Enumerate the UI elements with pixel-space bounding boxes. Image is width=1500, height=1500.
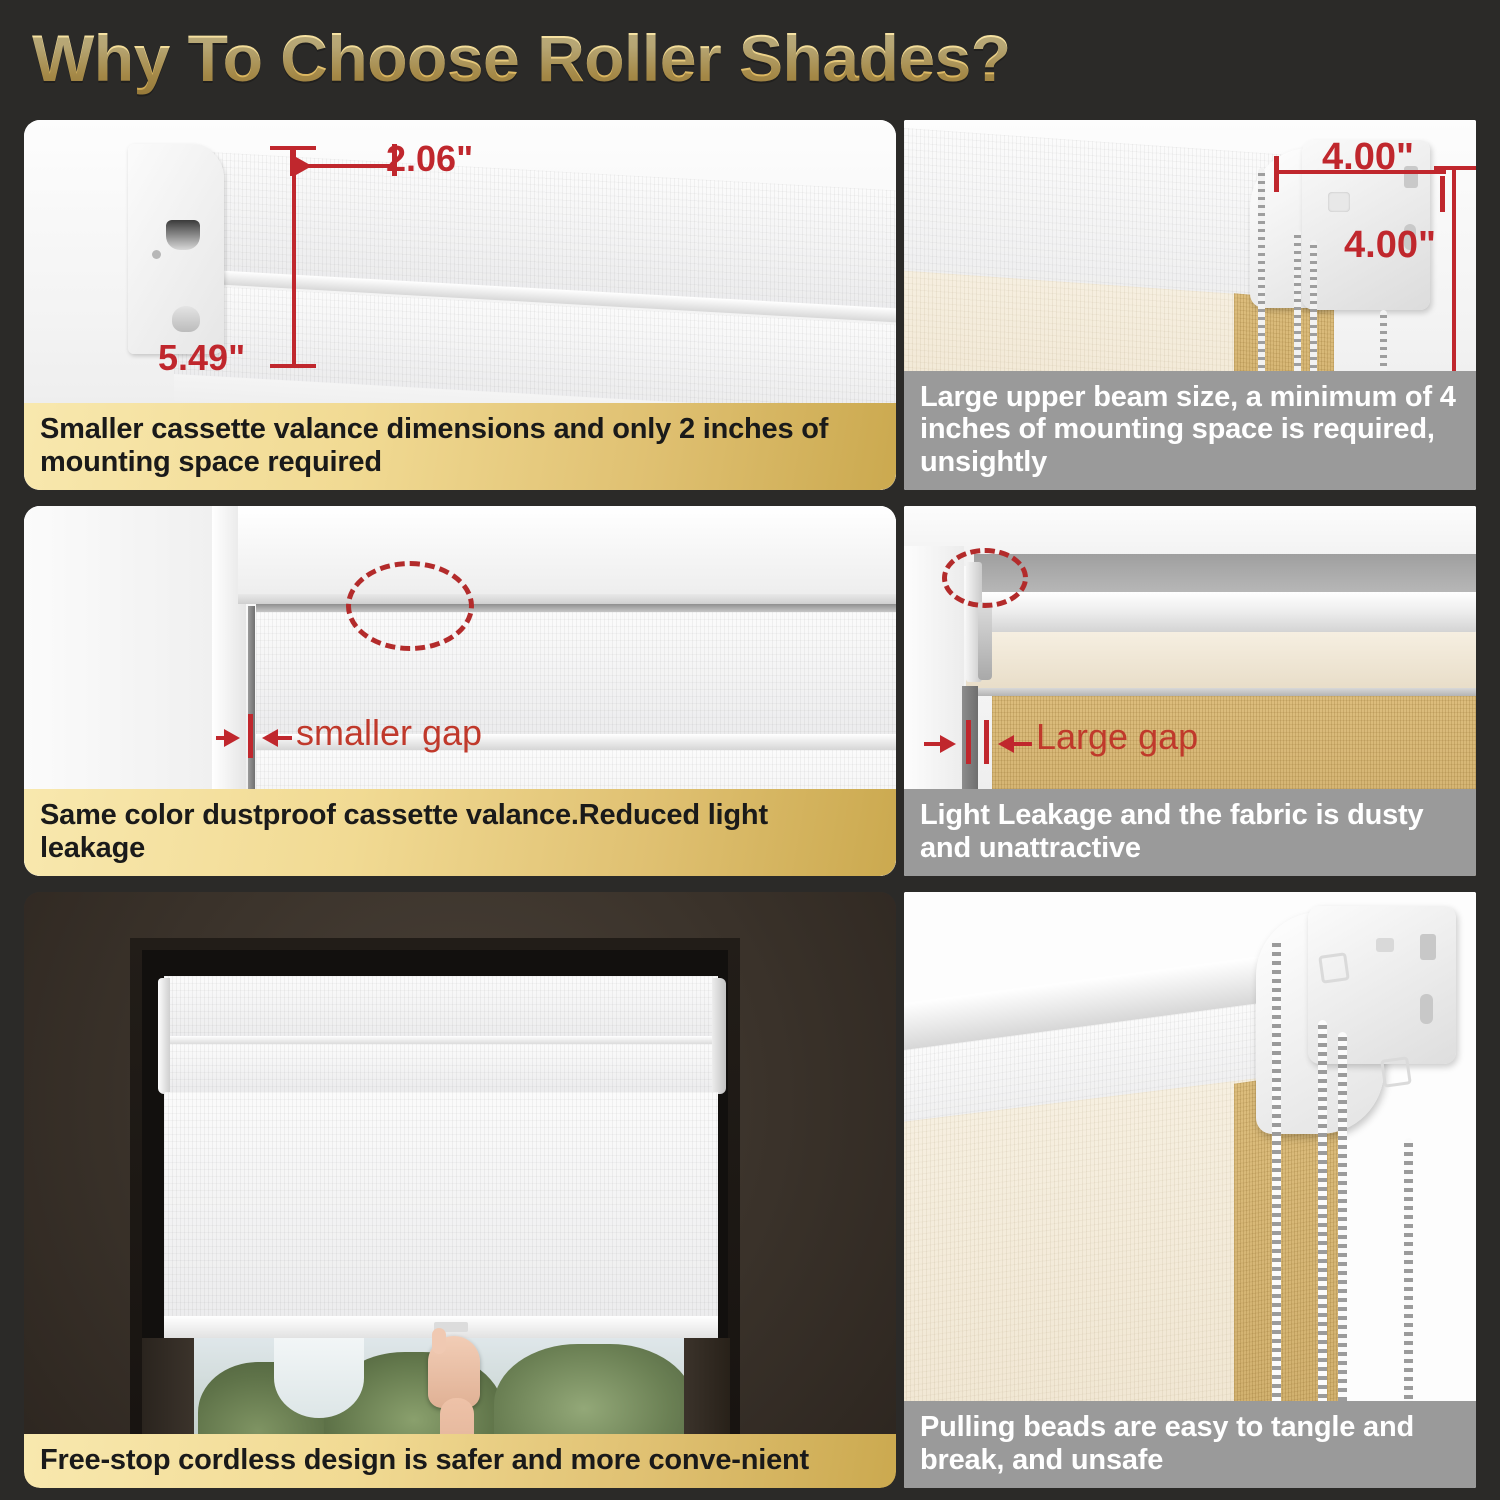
- large-gap-arrow-left-stem: [924, 742, 944, 746]
- width-dim-arrow: [296, 157, 312, 175]
- page-title: Why To Choose Roller Shades?: [32, 20, 1011, 96]
- large-gap-tick-b: [984, 720, 989, 764]
- large-gap-arrow-right-stem: [1014, 742, 1032, 746]
- beam-width-tick-right: [1440, 176, 1445, 212]
- corner-highlight-ellipse: [942, 548, 1028, 608]
- caption-good-light-leakage: Same color dustproof cassette valance.Re…: [24, 789, 896, 876]
- gap-label-smaller: smaller gap: [296, 712, 482, 754]
- gap-label-large: Large gap: [1036, 716, 1198, 758]
- height-dim-cap-top: [270, 146, 316, 150]
- height-dimension-text: 5.49": [158, 337, 245, 379]
- caption-bad-beam-size: Large upper beam size, a minimum of 4 in…: [904, 371, 1476, 490]
- caption-good-cassette-size: Smaller cassette valance dimensions and …: [24, 403, 896, 490]
- panel-good-cordless: Free-stop cordless design is safer and m…: [24, 892, 896, 1488]
- large-gap-arrow-right: [998, 735, 1014, 753]
- panel-bad-beam-size: 4.00" 4.00" Large upper beam size, a min…: [904, 120, 1476, 490]
- gap-arrow-right: [262, 729, 278, 747]
- pulling-beads-photo: [904, 892, 1476, 1488]
- caption-bad-beads: Pulling beads are easy to tangle and bre…: [904, 1401, 1476, 1488]
- width-dimension-text: 2.06": [386, 138, 473, 180]
- beam-width-tick-left: [1274, 156, 1279, 192]
- panel-good-cassette-size: 2.06" 2.06" 5.49" Smaller cassette valan…: [24, 120, 896, 490]
- caption-good-cordless: Free-stop cordless design is safer and m…: [24, 1434, 896, 1488]
- height-dim-cap-bottom: [270, 364, 316, 368]
- height-dim-line: [292, 146, 296, 368]
- top-gap-highlight-ellipse: [346, 561, 474, 651]
- comparison-grid: 2.06" 2.06" 5.49" Smaller cassette valan…: [0, 108, 1500, 1500]
- gap-arrow-right-stem: [278, 736, 292, 740]
- panel-bad-beads: Pulling beads are easy to tangle and bre…: [904, 892, 1476, 1488]
- page-header: Why To Choose Roller Shades?: [0, 0, 1500, 108]
- gap-tick: [248, 714, 253, 758]
- panel-good-light-leakage: smaller gap Same color dustproof cassett…: [24, 506, 896, 876]
- panel-bad-light-leakage: Large gap Light Leakage and the fabric i…: [904, 506, 1476, 876]
- gap-arrow-left-stem: [216, 736, 230, 740]
- large-gap-tick-a: [966, 720, 971, 764]
- caption-bad-light-leakage: Light Leakage and the fabric is dusty an…: [904, 789, 1476, 876]
- beam-height-cap-top: [1434, 166, 1476, 170]
- beam-height-text: 4.00": [1344, 224, 1436, 267]
- beam-width-text: 4.00": [1322, 136, 1414, 179]
- cordless-window-photo: [24, 892, 896, 1488]
